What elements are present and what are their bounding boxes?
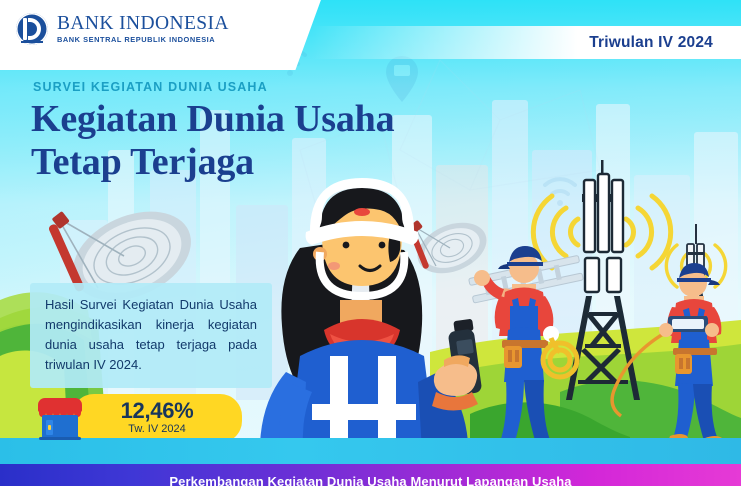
headline-line-2: Tetap Terjaga [31, 141, 461, 184]
shop-storefront-icon [36, 396, 84, 440]
stat-period: Tw. IV 2024 [98, 423, 216, 435]
brand-tagline: BANK SENTRAL REPUBLIK INDONESIA [57, 36, 229, 43]
bottom-caption: Perkembangan Kegiatan Dunia Usaha Menuru… [0, 474, 741, 486]
quarter-label: Triwulan IV 2024 [589, 34, 741, 52]
description-card: Hasil Survei Kegiatan Dunia Usaha mengin… [30, 283, 272, 388]
brand-name: BANK INDONESIA [57, 14, 229, 34]
description-text: Hasil Survei Kegiatan Dunia Usaha mengin… [45, 295, 257, 375]
infographic-poster: BANK INDONESIA BANK SENTRAL REPUBLIK IND… [0, 0, 741, 486]
stat-value: 12,46% [98, 400, 216, 422]
kicker-text: SURVEI KEGIATAN DUNIA USAHA [33, 80, 268, 94]
bank-indonesia-seal-icon [16, 13, 48, 45]
brand-logo: BANK INDONESIA BANK SENTRAL REPUBLIK IND… [16, 13, 229, 45]
stat-highlight: 12,46% Tw. IV 2024 [36, 394, 242, 443]
quarter-banner: Triwulan IV 2024 [311, 26, 741, 59]
bottom-teal-strip [0, 438, 741, 464]
stat-pill: 12,46% Tw. IV 2024 [72, 394, 242, 443]
headline-line-1: Kegiatan Dunia Usaha [31, 98, 461, 141]
page-title: Kegiatan Dunia Usaha Tetap Terjaga [31, 98, 461, 184]
